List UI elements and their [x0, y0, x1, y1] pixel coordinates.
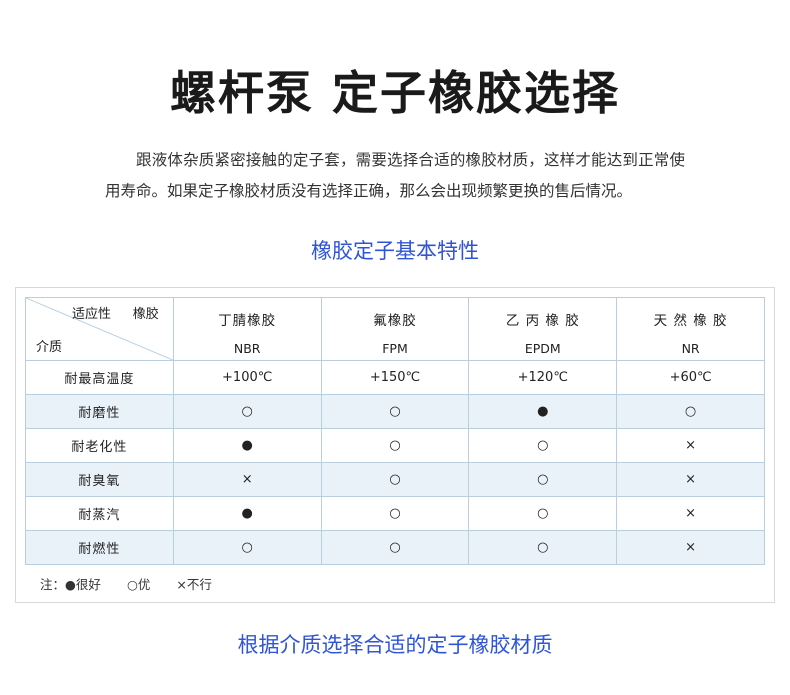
cell-wear-epdm: ●: [469, 394, 617, 428]
cell-aging-epdm: ○: [469, 428, 617, 462]
row-label-ozone: 耐臭氧: [26, 462, 174, 496]
column-header-fpm-en: FPM: [322, 341, 469, 356]
table-legend: 注：●很好○优×不行: [16, 565, 774, 602]
cell-ozone-nr: ×: [617, 462, 765, 496]
column-header-epdm-en: EPDM: [469, 341, 616, 356]
column-header-nbr-en: NBR: [174, 341, 321, 356]
cell-steam-nr: ×: [617, 496, 765, 530]
row-label-aging: 耐老化性: [26, 428, 174, 462]
column-header-fpm: 氟橡胶 FPM: [321, 297, 469, 360]
cell-aging-fpm: ○: [321, 428, 469, 462]
corner-label-adaptability: 适应性: [72, 303, 111, 322]
cell-flame-epdm: ○: [469, 530, 617, 564]
column-header-nr: 天 然 橡 胶 NR: [617, 297, 765, 360]
legend-prefix: 注：: [40, 577, 65, 592]
column-header-epdm: 乙 丙 橡 胶 EPDM: [469, 297, 617, 360]
cell-steam-fpm: ○: [321, 496, 469, 530]
column-header-nr-en: NR: [617, 341, 764, 356]
cell-aging-nbr: ●: [173, 428, 321, 462]
column-header-nbr-cn: 丁腈橡胶: [174, 309, 321, 329]
column-header-epdm-cn: 乙 丙 橡 胶: [469, 309, 616, 329]
column-header-fpm-cn: 氟橡胶: [322, 309, 469, 329]
table-row: 耐磨性 ○ ○ ● ○: [26, 394, 765, 428]
row-label-max-temp: 耐最高温度: [26, 360, 174, 394]
row-label-steam: 耐蒸汽: [26, 496, 174, 530]
cell-ozone-nbr: ×: [173, 462, 321, 496]
cell-wear-fpm: ○: [321, 394, 469, 428]
corner-label-rubber: 橡胶: [133, 303, 159, 322]
legend-item-not-ok: ×不行: [176, 577, 211, 592]
cell-max-temp-epdm: +120℃: [469, 360, 617, 394]
cell-aging-nr: ×: [617, 428, 765, 462]
table-header-row: 适应性 橡胶 介质 丁腈橡胶 NBR 氟橡胶 FPM 乙 丙 橡 胶 EPD: [26, 297, 765, 360]
cell-max-temp-fpm: +150℃: [321, 360, 469, 394]
page-root: 螺杆泵 定子橡胶选择 跟液体杂质紧密接触的定子套，需要选择合适的橡胶材质，这样才…: [0, 0, 790, 695]
page-title: 螺杆泵 定子橡胶选择: [0, 0, 790, 119]
cell-steam-nbr: ●: [173, 496, 321, 530]
spec-table-container: 适应性 橡胶 介质 丁腈橡胶 NBR 氟橡胶 FPM 乙 丙 橡 胶 EPD: [15, 287, 775, 603]
legend-item-very-good: ●很好: [65, 577, 101, 592]
table-row: 耐燃性 ○ ○ ○ ×: [26, 530, 765, 564]
corner-label-medium: 介质: [36, 336, 62, 355]
cell-ozone-epdm: ○: [469, 462, 617, 496]
table-corner-cell: 适应性 橡胶 介质: [26, 297, 174, 360]
cell-ozone-fpm: ○: [321, 462, 469, 496]
row-label-flame: 耐燃性: [26, 530, 174, 564]
table-row: 耐臭氧 × ○ ○ ×: [26, 462, 765, 496]
table-row: 耐老化性 ● ○ ○ ×: [26, 428, 765, 462]
cell-flame-nr: ×: [617, 530, 765, 564]
cell-flame-fpm: ○: [321, 530, 469, 564]
cell-max-temp-nr: +60℃: [617, 360, 765, 394]
footer-caption: 根据介质选择合适的定子橡胶材质: [0, 629, 790, 659]
column-header-nbr: 丁腈橡胶 NBR: [173, 297, 321, 360]
row-label-wear: 耐磨性: [26, 394, 174, 428]
cell-max-temp-nbr: +100℃: [173, 360, 321, 394]
table-row: 耐蒸汽 ● ○ ○ ×: [26, 496, 765, 530]
section-subheading: 橡胶定子基本特性: [0, 235, 790, 265]
cell-wear-nr: ○: [617, 394, 765, 428]
table-row: 耐最高温度 +100℃ +150℃ +120℃ +60℃: [26, 360, 765, 394]
cell-wear-nbr: ○: [173, 394, 321, 428]
cell-flame-nbr: ○: [173, 530, 321, 564]
intro-paragraph: 跟液体杂质紧密接触的定子套，需要选择合适的橡胶材质，这样才能达到正常使用寿命。如…: [105, 145, 685, 207]
rubber-properties-table: 适应性 橡胶 介质 丁腈橡胶 NBR 氟橡胶 FPM 乙 丙 橡 胶 EPD: [25, 297, 765, 565]
column-header-nr-cn: 天 然 橡 胶: [617, 309, 764, 329]
cell-steam-epdm: ○: [469, 496, 617, 530]
legend-item-good: ○优: [127, 577, 150, 592]
